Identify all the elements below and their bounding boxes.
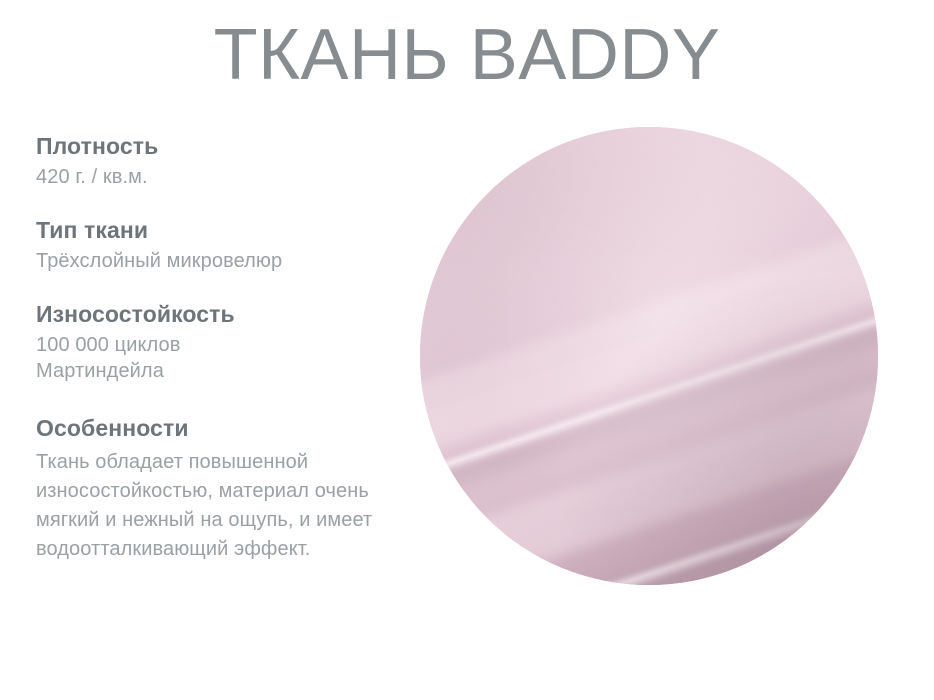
spec-heading-fabric-type: Тип ткани [36, 216, 396, 245]
spec-block-features: Особенности Ткань обладает повышенной из… [36, 414, 396, 564]
spec-block-fabric-type: Тип ткани Трёхслойный микровелюр [36, 216, 396, 274]
spec-value-features: Ткань обладает повышенной износостойкост… [36, 448, 381, 564]
spec-block-density: Плотность 420 г. / кв.м. [36, 132, 396, 190]
page-title: ТКАНЬ BADDY [0, 14, 934, 96]
fabric-texture-graphic [420, 127, 878, 585]
spec-block-durability: Износостойкость 100 000 циклов Мартиндей… [36, 300, 396, 384]
spec-value-fabric-type: Трёхслойный микровелюр [36, 248, 396, 274]
spec-heading-durability: Износостойкость [36, 300, 396, 329]
spec-heading-density: Плотность [36, 132, 396, 161]
specs-list: Плотность 420 г. / кв.м. Тип ткани Трёхс… [36, 132, 396, 564]
spec-heading-features: Особенности [36, 414, 396, 443]
spec-value-density: 420 г. / кв.м. [36, 164, 396, 190]
fabric-swatch-image [420, 127, 878, 585]
fabric-spec-poster: ТКАНЬ BADDY Плотность 420 г. / кв.м. Тип… [0, 0, 934, 700]
spec-value-durability: 100 000 циклов Мартиндейла [36, 332, 396, 384]
